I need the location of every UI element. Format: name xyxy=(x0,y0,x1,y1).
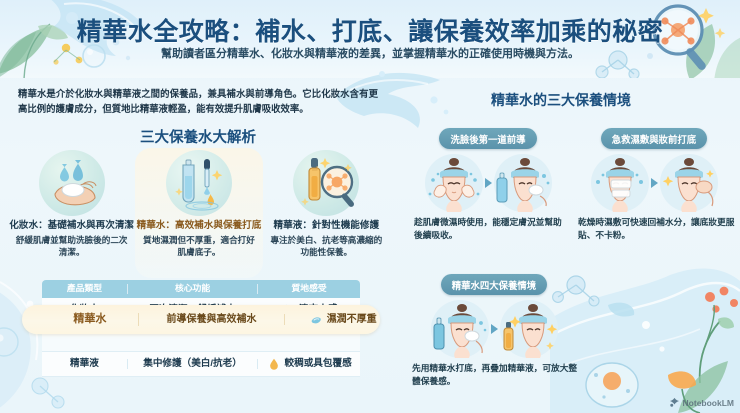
card-title: 精華液：針對性機能修護 xyxy=(263,220,390,233)
header-banner: 精華水全攻略：補水、打底、讓保養效率加乘的秘密 幫助讀者區分精華水、化妝水與精華… xyxy=(0,0,740,78)
product-card-toner[interactable]: 化妝水：基礎補水與再次清潔 舒緩肌膚並幫助洗臉後的二次清潔。 xyxy=(8,148,135,278)
section-title-scenarios: 精華水的三大保養情境 xyxy=(396,90,726,110)
product-card-serum[interactable]: 精華液：針對性機能修護 專注於美白、抗老等高濃縮的功能性保養。 xyxy=(263,148,390,278)
page-title: 精華水全攻略：補水、打底、讓保養效率加乘的秘密 xyxy=(0,12,740,48)
card-desc: 質地濕潤但不厚重，適合打好肌膚底子。 xyxy=(135,235,262,259)
face-makeup-base-icon xyxy=(660,154,718,212)
card-title: 化妝水：基礎補水與再次清潔 xyxy=(8,220,135,233)
cell-product-type: 精華水 xyxy=(42,313,139,325)
face-washing-icon xyxy=(425,154,483,212)
scenario-desc-1: 趁肌膚微濕時使用，能穩定膚況並幫助後續吸收。 xyxy=(408,216,568,241)
scenario-images-1 xyxy=(408,154,568,212)
cell-texture-label: 濕潤不厚重 xyxy=(327,314,377,325)
face-bottle-pat-icon xyxy=(494,154,552,212)
card-title: 精華水：高效補水與保養打底 xyxy=(135,220,262,233)
table-header-cell: 產品類型 xyxy=(42,284,128,294)
hand-cotton-pad-icon xyxy=(39,150,105,216)
right-column: 精華水的三大保養情境 洗臉後第一道前導 xyxy=(396,78,740,413)
product-card-group: 化妝水：基礎補水與再次清潔 舒緩肌膚並幫助洗臉後的二次清潔。 xyxy=(8,148,390,278)
scenario-images-2 xyxy=(572,154,736,212)
scenario-pill-2[interactable]: 急救濕敷與妝前打底 xyxy=(601,128,707,149)
serum-magnifier-icon xyxy=(293,150,359,216)
notebooklm-logo-icon xyxy=(669,397,680,408)
arrow-right-icon xyxy=(651,178,658,188)
product-card-essence-water[interactable]: 精華水：高效補水與保養打底 質地濕潤但不厚重，適合打好肌膚底子。 xyxy=(135,148,262,278)
bottle-dropper-icon xyxy=(166,150,232,216)
section-title-analysis: 三大保養水大解析 xyxy=(0,126,396,147)
scenario-images-3 xyxy=(408,300,580,358)
watermark-label: NotebookLM xyxy=(683,398,734,408)
table-header-cell: 質地感受 xyxy=(258,284,360,294)
cell-texture: 較稠或具包覆感 xyxy=(258,357,360,371)
scenario-pill-3[interactable]: 精華水四大保養情境 xyxy=(441,274,547,295)
face-bottle-apply-icon xyxy=(431,300,489,358)
cell-texture: 濕潤不厚重 xyxy=(285,313,400,327)
scenario-desc-3: 先用精華水打底，再疊加精華液，可放大整體保養感。 xyxy=(408,362,580,387)
scenario-pill-1[interactable]: 洗臉後第一道前導 xyxy=(439,128,536,149)
arrow-right-icon xyxy=(491,324,498,334)
page-subtitle: 幫助讀者區分精華水、化妝水與精華液的差異，並掌握精華水的正確使用時機與方法。 xyxy=(0,45,740,61)
watermark: NotebookLM xyxy=(669,397,734,408)
intro-paragraph: 精華水是介於化妝水與精華液之間的保養品，兼具補水與前導角色。它比化妝水含有更高比… xyxy=(18,87,378,116)
table-header-row: 產品類型 核心功能 質地感受 xyxy=(42,280,360,298)
cell-product-type: 精華液 xyxy=(42,359,128,370)
scenario-card-3[interactable]: 精華水四大保養情境 xyxy=(408,274,580,387)
gel-drop-icon xyxy=(309,313,323,327)
arrow-right-icon xyxy=(485,178,492,188)
infographic-page: 精華水全攻略：補水、打底、讓保養效率加乘的秘密 幫助讀者區分精華水、化妝水與精華… xyxy=(0,0,740,413)
cell-texture-label: 較稠或具包覆感 xyxy=(285,359,352,370)
scenario-card-2[interactable]: 急救濕敷與妝前打底 xyxy=(572,128,736,241)
face-cotton-compress-icon xyxy=(591,154,649,212)
card-desc: 舒緩肌膚並幫助洗臉後的二次清潔。 xyxy=(8,235,135,259)
amber-drop-icon xyxy=(267,357,281,371)
cell-function: 前導保養與高效補水 xyxy=(139,314,286,325)
cell-function: 集中修護（美白/抗老） xyxy=(128,359,258,370)
scenario-card-1[interactable]: 洗臉後第一道前導 xyxy=(408,128,568,241)
table-row-highlighted[interactable]: 精華水 前導保養與高效補水 濕潤不厚重 xyxy=(22,305,380,334)
table-row[interactable]: 精華液 集中修護（美白/抗老） 較稠或具包覆感 xyxy=(42,352,360,377)
left-column: 精華水是介於化妝水與精華液之間的保養品，兼具補水與前導角色。它比化妝水含有更高比… xyxy=(0,78,396,413)
face-serum-layer-icon xyxy=(500,300,558,358)
table-header-cell: 核心功能 xyxy=(128,284,258,294)
scenario-desc-2: 乾燥時濕敷可快速回補水分，讓底妝更服貼、不卡粉。 xyxy=(572,216,736,241)
card-desc: 專注於美白、抗老等高濃縮的功能性保養。 xyxy=(263,235,390,259)
